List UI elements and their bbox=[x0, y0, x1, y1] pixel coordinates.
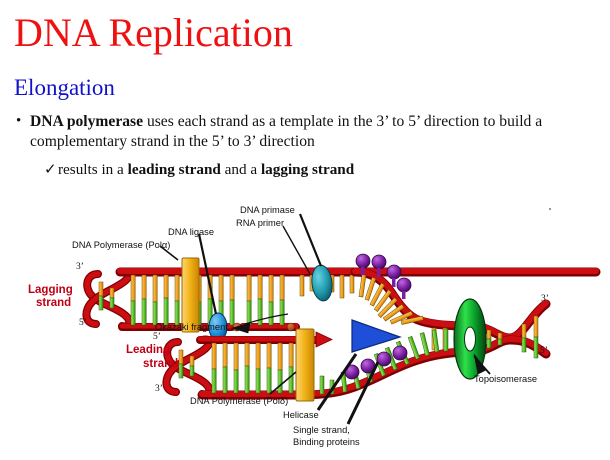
section-subheading: Elongation bbox=[14, 74, 115, 102]
label-dna-ligase: DNA ligase bbox=[168, 227, 214, 238]
label-rna-primer: RNA primer bbox=[236, 218, 284, 229]
label-lagging-strand-line-1: Lagging bbox=[28, 284, 73, 297]
label-dna-polymerase-delta: DNA Polymerase (Polδ) bbox=[190, 396, 288, 407]
label-helicase: Helicase bbox=[283, 410, 319, 421]
label-dna-polymerase-alpha: DNA Polymerase (Polα) bbox=[72, 240, 170, 251]
lagging-base-pairs bbox=[131, 275, 284, 325]
tick-right-5prime: 5’ bbox=[540, 346, 548, 356]
label-ssb-line-2: Binding proteins bbox=[293, 437, 360, 448]
tick-leading-3prime: 3’ bbox=[155, 384, 163, 394]
label-dna-primase: DNA primase bbox=[240, 205, 295, 216]
sub-bullet-item: ✓results in a leading strand and a laggi… bbox=[44, 160, 564, 179]
tick-lagging-5prime: 5’ bbox=[79, 318, 87, 328]
dna-polymerase-delta-shape bbox=[296, 329, 314, 401]
lagging-strand-left-helix bbox=[86, 271, 129, 326]
tick-lagging-3prime: 3’ bbox=[76, 262, 84, 272]
label-lagging-strand-line-2: strand bbox=[36, 297, 71, 310]
bullet-bold-term: DNA polymerase bbox=[30, 113, 143, 130]
sub-bullet-bold-lagging: lagging strand bbox=[261, 161, 354, 178]
sub-bullet-pre: results in a bbox=[58, 161, 128, 178]
check-icon: ✓ bbox=[44, 160, 58, 179]
tick-leading-5prime: 5’ bbox=[153, 332, 161, 342]
stray-speck bbox=[549, 208, 551, 210]
label-okazaki-fragment: Okazaki fragment bbox=[155, 322, 228, 333]
label-leading-strand-line-1: Leading bbox=[126, 344, 170, 357]
dna-replication-diagram: DNA Polymerase (Polα) DNA ligase DNA pri… bbox=[0, 196, 610, 460]
bullet-marker: • bbox=[16, 112, 21, 132]
bullet-item: • DNA polymerase uses each strand as a t… bbox=[14, 112, 600, 151]
helicase-shape bbox=[352, 320, 400, 352]
bullet-text: DNA polymerase uses each strand as a tem… bbox=[30, 112, 600, 151]
label-ssb-line-1: Single strand, bbox=[293, 425, 350, 436]
sub-bullet-mid: and a bbox=[221, 161, 261, 178]
leading-template-backbone bbox=[202, 351, 470, 395]
label-topoisomerase: Topoisomerase bbox=[474, 374, 537, 385]
label-leading-strand-line-2: strand bbox=[143, 358, 178, 371]
slide-canvas: DNA Replication Elongation • DNA polymer… bbox=[0, 0, 610, 460]
dna-polymerase-alpha-shape bbox=[182, 258, 199, 332]
page-title: DNA Replication bbox=[14, 10, 293, 56]
tick-right-3prime: 3’ bbox=[541, 294, 549, 304]
sub-bullet-bold-leading: leading strand bbox=[128, 161, 221, 178]
